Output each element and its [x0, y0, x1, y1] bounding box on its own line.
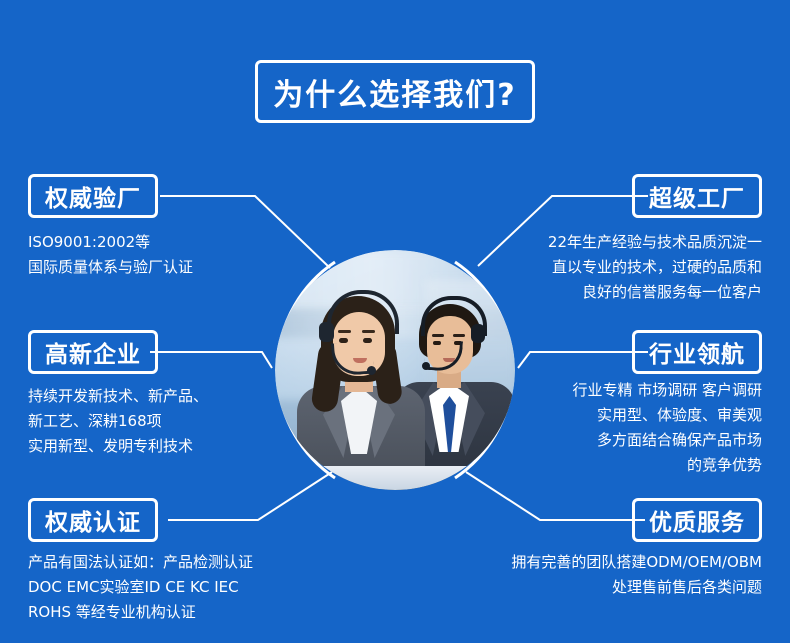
- pill-authoritative-certification[interactable]: 权威认证: [28, 498, 158, 542]
- pill-label: 权威认证: [45, 503, 141, 537]
- pill-high-tech-enterprise[interactable]: 高新企业: [28, 330, 158, 374]
- desc-high-tech-enterprise: 持续开发新技术、新产品、 新工艺、深耕168项 实用新型、发明专利技术: [28, 384, 288, 459]
- desc-super-factory: 22年生产经验与技术品质沉淀一 直以专业的技术，过硬的品质和 良好的信誉服务每一…: [462, 230, 762, 305]
- pill-label: 行业领航: [649, 335, 745, 369]
- pill-super-factory[interactable]: 超级工厂: [632, 174, 762, 218]
- pill-label: 超级工厂: [649, 179, 745, 213]
- desc-authoritative-factory-inspection: ISO9001:2002等 国际质量体系与验厂认证: [28, 230, 288, 280]
- pill-label: 高新企业: [45, 335, 141, 369]
- pill-industry-leading[interactable]: 行业领航: [632, 330, 762, 374]
- pill-label: 优质服务: [649, 503, 745, 537]
- pill-authoritative-factory-inspection[interactable]: 权威验厂: [28, 174, 158, 218]
- pill-quality-service[interactable]: 优质服务: [632, 498, 762, 542]
- infographic-canvas: 为什么选择我们?: [0, 0, 790, 643]
- desc-authoritative-certification: 产品有国法认证如：产品检测认证 DOC EMC实验室ID CE KC IEC R…: [28, 550, 328, 625]
- desc-quality-service: 拥有完善的团队搭建ODM/OEM/OBM 处理售前售后各类问题: [432, 550, 762, 600]
- pill-label: 权威验厂: [45, 179, 141, 213]
- desc-industry-leading: 行业专精 市场调研 客户调研 实用型、体验度、审美观 多方面结合确保产品市场 的…: [462, 378, 762, 478]
